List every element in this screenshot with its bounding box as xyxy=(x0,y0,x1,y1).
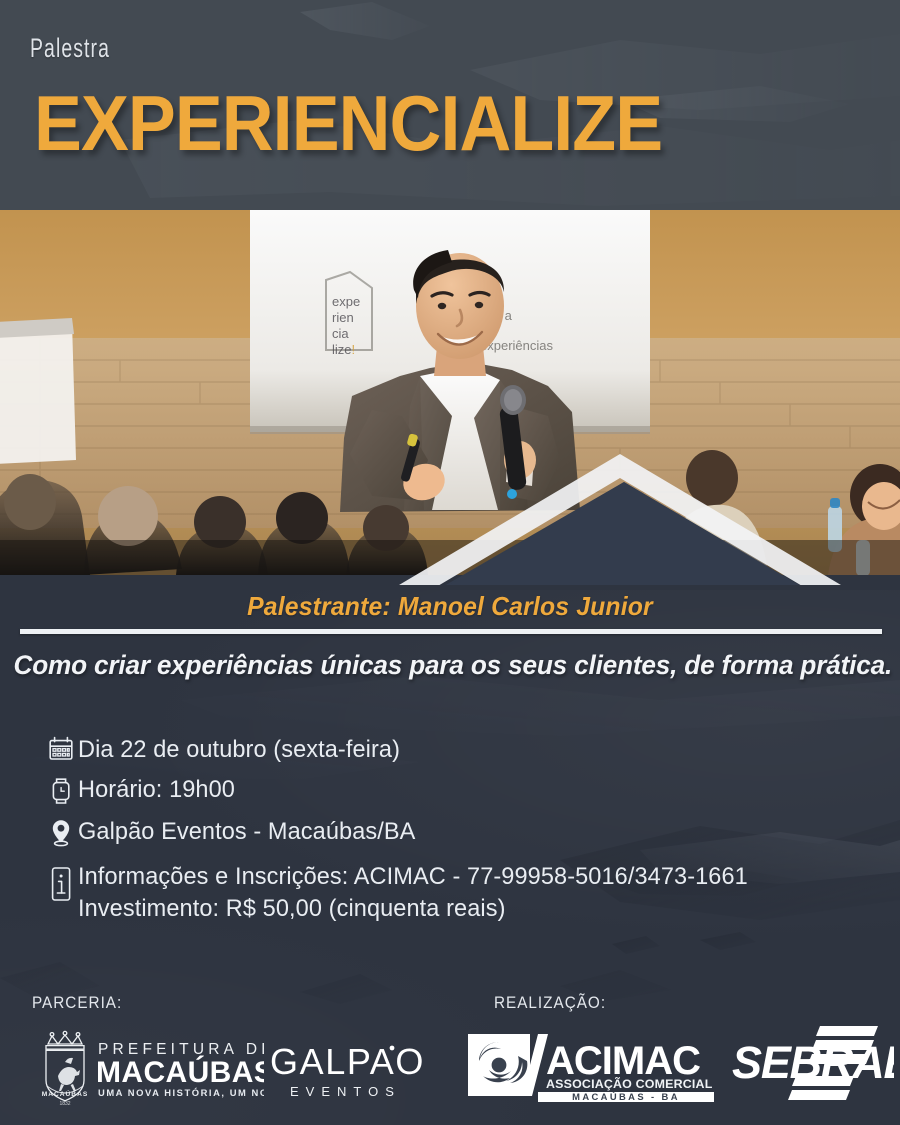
detail-location-row: Galpão Eventos - Macaúbas/BA xyxy=(44,817,762,848)
detail-date-row: Dia 22 de outubro (sexta-feira) xyxy=(44,735,762,764)
detail-time-label: Horário: 19h00 xyxy=(78,775,235,804)
svg-text:lize!: lize! xyxy=(332,342,355,357)
calendar-icon xyxy=(44,735,78,762)
event-poster: Palestra EXPERIENCIALIZE xyxy=(0,0,900,1125)
detail-info-row: Informações e Inscrições: ACIMAC - 77-99… xyxy=(44,862,762,923)
divider-rule xyxy=(20,629,882,634)
partner-label: PARCERIA: xyxy=(32,993,122,1013)
detail-date-label: Dia 22 de outubro (sexta-feira) xyxy=(78,735,400,764)
svg-text:expe: expe xyxy=(332,294,360,309)
info-line-1: Informações e Inscrições: ACIMAC - 77-99… xyxy=(78,863,748,890)
kicker-text: Palestra xyxy=(30,33,110,64)
event-details: Dia 22 de outubro (sexta-feira) Horário:… xyxy=(44,735,762,923)
realization-label: REALIZAÇÃO: xyxy=(494,993,606,1013)
detail-time-row: Horário: 19h00 xyxy=(44,775,762,806)
map-pin-icon xyxy=(44,817,78,848)
speaker-name: Palestrante: Manoel Carlos Junior xyxy=(23,591,878,622)
speaker-photo: expe rien cia lize! dos a experiências F… xyxy=(0,210,900,575)
poster-header: Palestra EXPERIENCIALIZE xyxy=(0,0,900,212)
svg-text:cia: cia xyxy=(332,326,349,341)
detail-info-label: Informações e Inscrições: ACIMAC - 77-99… xyxy=(78,862,748,923)
poster-subtitle: Como criar experiências únicas para os s… xyxy=(14,650,887,681)
poster-footer: PARCERIA: REALIZAÇÃO: xyxy=(0,975,900,1125)
detail-location-label: Galpão Eventos - Macaúbas/BA xyxy=(78,817,415,846)
watch-icon xyxy=(44,775,78,806)
info-icon xyxy=(44,862,78,903)
info-line-2: Investimento: R$ 50,00 (cinquenta reais) xyxy=(78,894,748,923)
svg-text:rien: rien xyxy=(332,310,354,325)
poster-title: EXPERIENCIALIZE xyxy=(34,78,662,169)
